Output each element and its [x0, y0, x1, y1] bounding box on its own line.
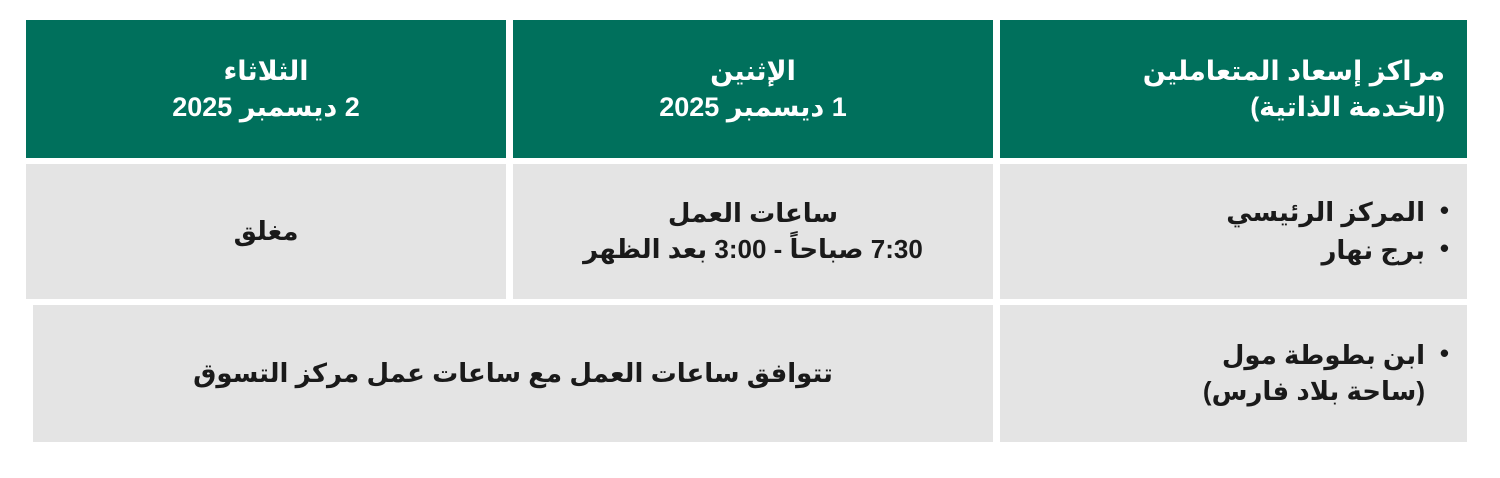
- header-tuesday-day-name: الثلاثاء: [224, 53, 309, 89]
- row1-cell-tuesday: مغلق: [26, 164, 506, 299]
- row2-cell-centers: ابن بطوطة مول (ساحة بلاد فارس): [1000, 305, 1467, 442]
- row2-center-sub-0: (ساحة بلاد فارس): [1203, 374, 1425, 409]
- list-item: المركز الرئيسي: [1226, 195, 1425, 230]
- row1-monday-line1: ساعات العمل: [668, 196, 838, 231]
- header-cell-centers: مراكز إسعاد المتعاملين (الخدمة الذاتية): [1000, 20, 1467, 158]
- row2-cell-merged-hours: تتوافق ساعات العمل مع ساعات عمل مركز الت…: [33, 305, 993, 442]
- row1-cell-monday: ساعات العمل 7:30 صباحاً - 3:00 بعد الظهر: [513, 164, 993, 299]
- table-row: المركز الرئيسي برج نهار ساعات العمل 7:30…: [33, 164, 1467, 299]
- row1-center-name-0: المركز الرئيسي: [1226, 197, 1425, 227]
- schedule-table: مراكز إسعاد المتعاملين (الخدمة الذاتية) …: [33, 20, 1467, 442]
- row2-center-list: ابن بطوطة مول (ساحة بلاد فارس): [1203, 338, 1451, 408]
- list-item: برج نهار: [1226, 233, 1425, 268]
- row1-monday-line2: 7:30 صباحاً - 3:00 بعد الظهر: [583, 232, 923, 267]
- row1-cell-centers: المركز الرئيسي برج نهار: [1000, 164, 1467, 299]
- list-item: ابن بطوطة مول (ساحة بلاد فارس): [1203, 338, 1425, 408]
- header-monday-date: 1 ديسمبر 2025: [659, 89, 847, 125]
- row2-center-name-0: ابن بطوطة مول: [1222, 340, 1425, 370]
- header-centers-line1: مراكز إسعاد المتعاملين: [1143, 53, 1445, 89]
- header-cell-tuesday: الثلاثاء 2 ديسمبر 2025: [26, 20, 506, 158]
- row2-merged-text: تتوافق ساعات العمل مع ساعات عمل مركز الت…: [193, 356, 833, 391]
- table-row: ابن بطوطة مول (ساحة بلاد فارس) تتوافق سا…: [33, 305, 1467, 442]
- row1-center-name-1: برج نهار: [1321, 235, 1425, 265]
- row1-center-list: المركز الرئيسي برج نهار: [1226, 195, 1451, 267]
- header-monday-day-name: الإثنين: [710, 53, 796, 89]
- header-tuesday-date: 2 ديسمبر 2025: [172, 89, 360, 125]
- header-cell-monday: الإثنين 1 ديسمبر 2025: [513, 20, 993, 158]
- row1-tuesday-status: مغلق: [234, 214, 299, 249]
- table-header-row: مراكز إسعاد المتعاملين (الخدمة الذاتية) …: [33, 20, 1467, 158]
- header-centers-line2: (الخدمة الذاتية): [1143, 89, 1445, 125]
